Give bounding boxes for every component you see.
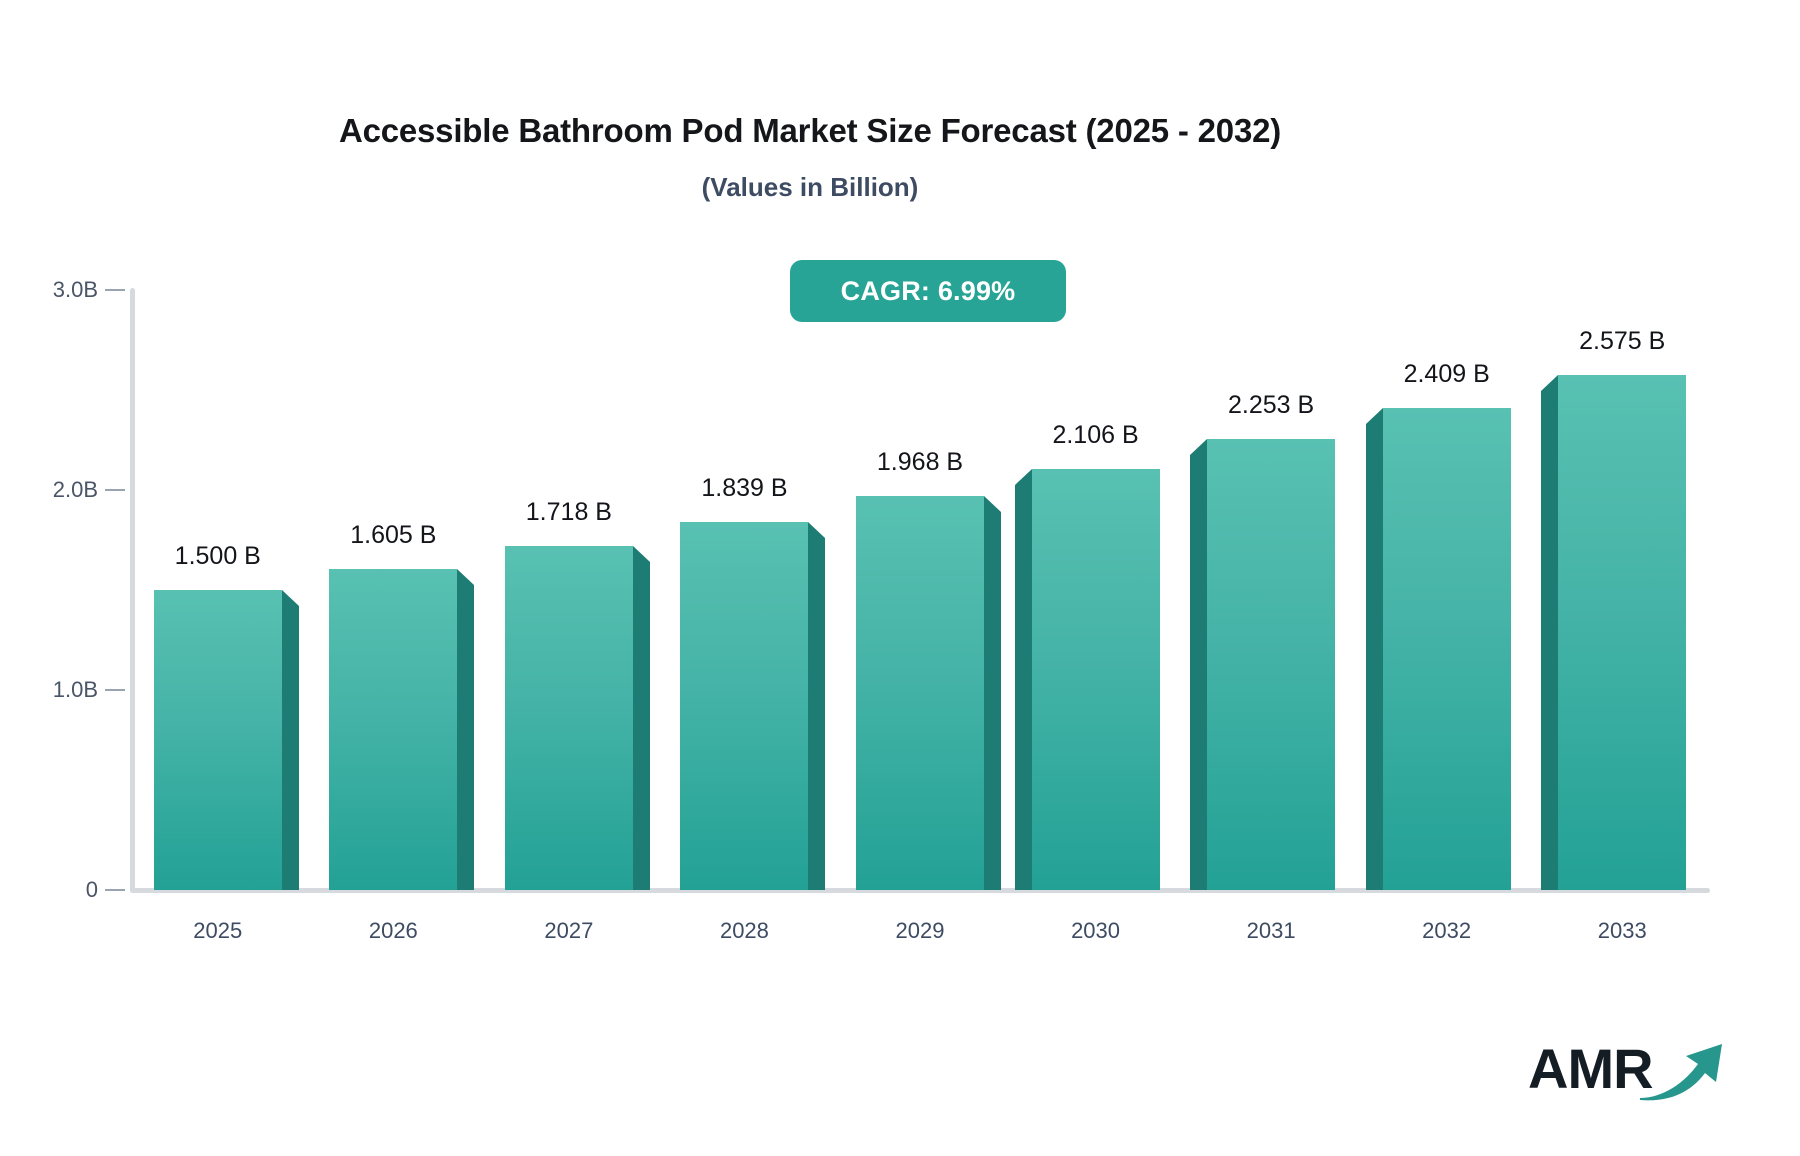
x-axis-tick-label: 2031 xyxy=(1181,918,1361,944)
bar-side-cap xyxy=(1541,375,1558,391)
amr-logo: AMR xyxy=(1528,1038,1728,1110)
bar-side-panel xyxy=(808,538,825,890)
plot-area: 01.0B2.0B3.0B 1.500 B1.605 B1.718 B1.839… xyxy=(0,0,1800,1156)
bar-value-label: 1.968 B xyxy=(810,448,1030,477)
bar-side-panel xyxy=(1015,485,1032,890)
x-axis-tick-label: 2032 xyxy=(1357,918,1537,944)
bar-side-cap xyxy=(1190,439,1207,455)
x-axis-tick-label: 2026 xyxy=(303,918,483,944)
bar xyxy=(1032,469,1160,890)
y-axis-tick-label: 1.0B xyxy=(18,677,98,703)
bar-side-cap xyxy=(1015,469,1032,485)
bar-value-label: 2.575 B xyxy=(1512,327,1732,356)
y-axis-tick-label: 3.0B xyxy=(18,277,98,303)
bar-value-label: 2.409 B xyxy=(1337,360,1557,389)
bar-side-panel xyxy=(633,562,650,890)
bar-side-panel xyxy=(457,585,474,890)
bar-side-cap xyxy=(984,496,1001,512)
bar xyxy=(329,569,457,890)
y-axis-tick-label: 0 xyxy=(18,877,98,903)
bar-side-cap xyxy=(633,546,650,562)
y-axis-tick-mark xyxy=(105,689,125,691)
bar-side-cap xyxy=(282,590,299,606)
bar xyxy=(505,546,633,890)
x-axis-tick-label: 2030 xyxy=(1006,918,1186,944)
bar xyxy=(856,496,984,890)
y-axis-line xyxy=(130,288,135,892)
bar-side-panel xyxy=(1541,391,1558,890)
bar-side-cap xyxy=(808,522,825,538)
x-axis-tick-label: 2025 xyxy=(128,918,308,944)
bar xyxy=(154,590,282,890)
chart-container: Accessible Bathroom Pod Market Size Fore… xyxy=(0,0,1800,1156)
x-axis-tick-label: 2029 xyxy=(830,918,1010,944)
x-axis-tick-label: 2033 xyxy=(1532,918,1712,944)
amr-logo-text: AMR xyxy=(1528,1038,1653,1100)
bar-side-cap xyxy=(457,569,474,585)
bar-side-cap xyxy=(1366,408,1383,424)
bar-side-panel xyxy=(1366,424,1383,890)
bar xyxy=(680,522,808,890)
x-axis-tick-label: 2028 xyxy=(654,918,834,944)
bar-side-panel xyxy=(282,606,299,890)
bar-side-panel xyxy=(1190,455,1207,890)
y-axis-tick-mark xyxy=(105,889,125,891)
y-axis-tick-mark xyxy=(105,289,125,291)
bar xyxy=(1207,439,1335,890)
bar xyxy=(1383,408,1511,890)
x-axis-tick-label: 2027 xyxy=(479,918,659,944)
bar-value-label: 2.106 B xyxy=(986,421,1206,450)
bar-value-label: 1.839 B xyxy=(634,474,854,503)
y-axis-tick-label: 2.0B xyxy=(18,477,98,503)
growth-arrow-icon xyxy=(1638,1040,1728,1102)
y-axis-tick-mark xyxy=(105,489,125,491)
bar xyxy=(1558,375,1686,890)
bar-value-label: 2.253 B xyxy=(1161,391,1381,420)
bar-side-panel xyxy=(984,512,1001,890)
